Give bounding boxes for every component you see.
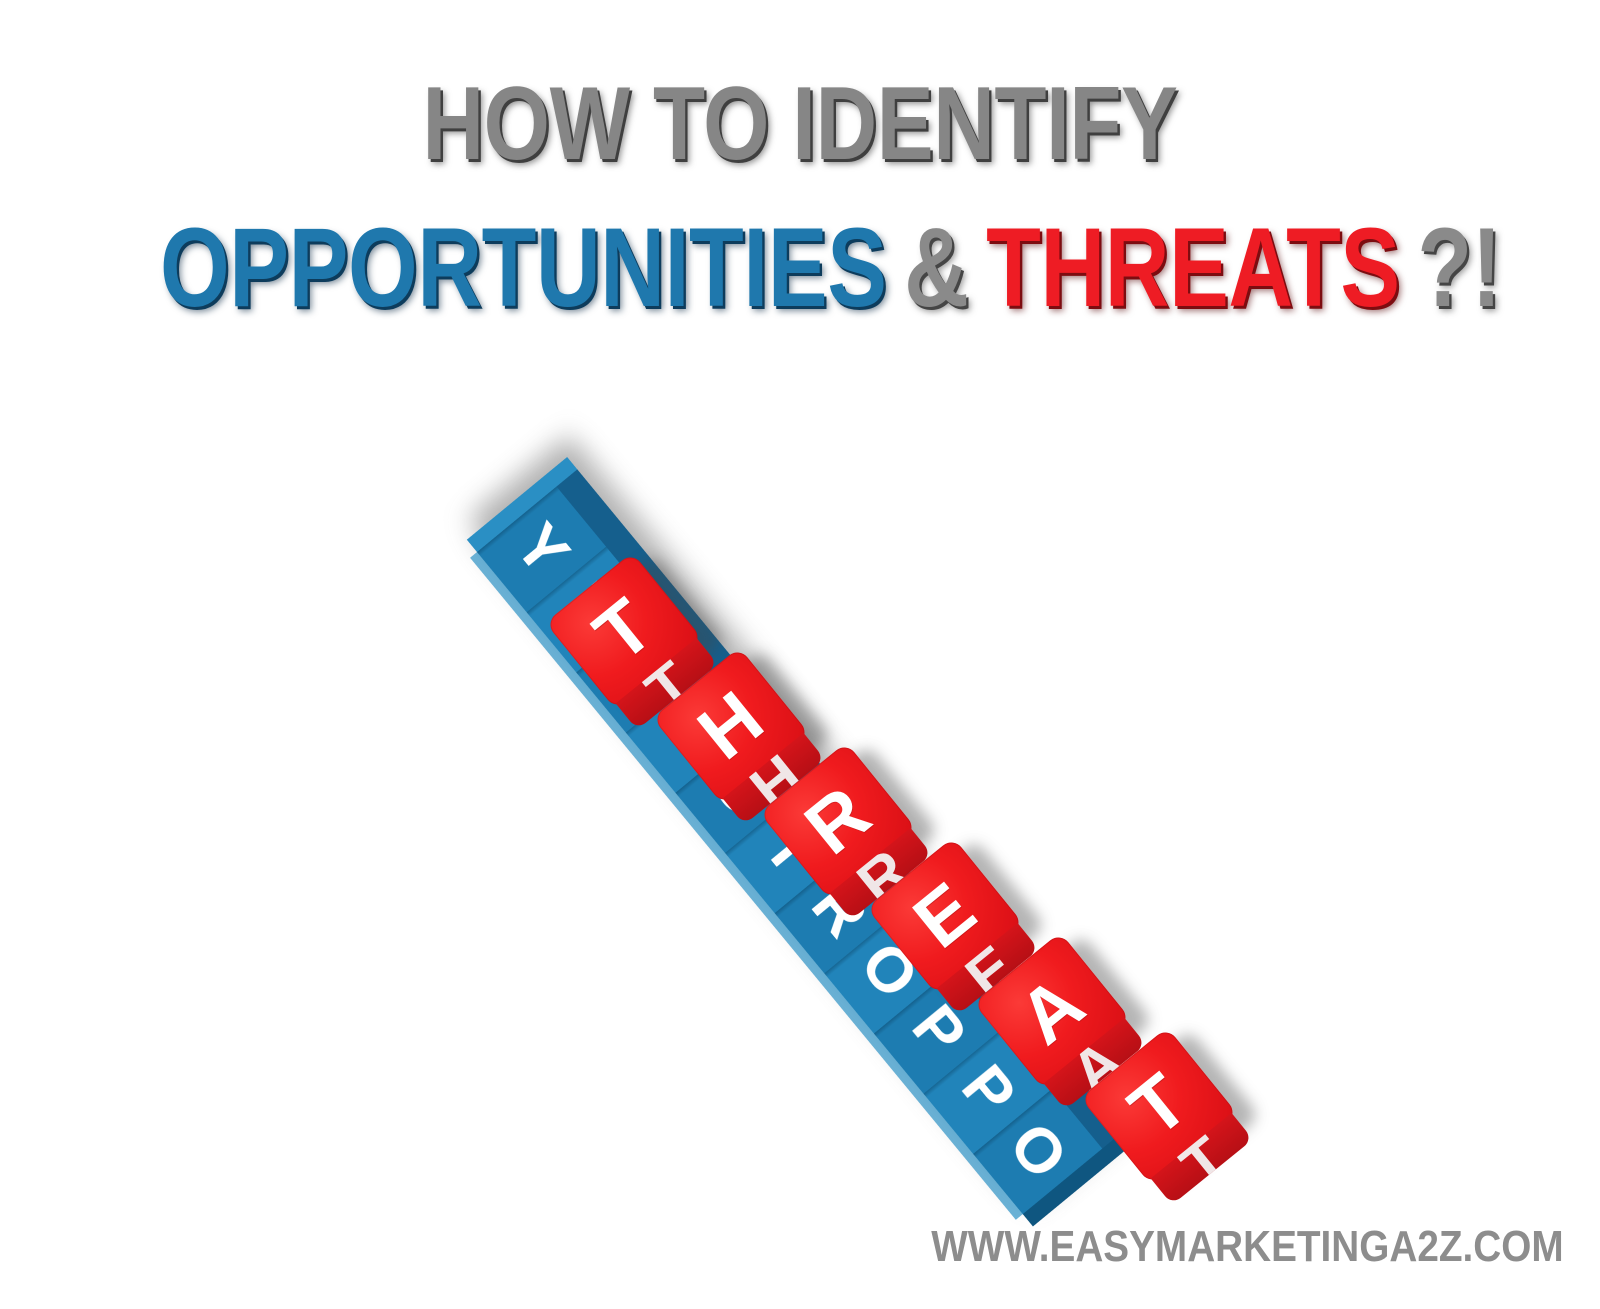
headline-text-threats: THREATS <box>986 205 1400 330</box>
poster-canvas: HOW TO IDENTIFY OPPORTUNITIES&THREATS?! … <box>0 0 1600 1309</box>
site-url-watermark: WWW.EASYMARKETINGA2Z.COM <box>932 1222 1564 1272</box>
headline-ampersand: & <box>904 205 968 330</box>
headline-punctuation: ?! <box>1417 205 1501 330</box>
headline-text-how-to-identify: HOW TO IDENTIFY <box>422 66 1177 182</box>
headline-line-1: HOW TO IDENTIFY <box>144 72 1456 176</box>
headline-line-2: OPPORTUNITIES&THREATS?! <box>160 212 1440 324</box>
crossed-letter-blocks-illustration: O P P O R T U N I <box>380 480 1200 1220</box>
headline-text-opportunities: OPPORTUNITIES <box>160 205 887 330</box>
